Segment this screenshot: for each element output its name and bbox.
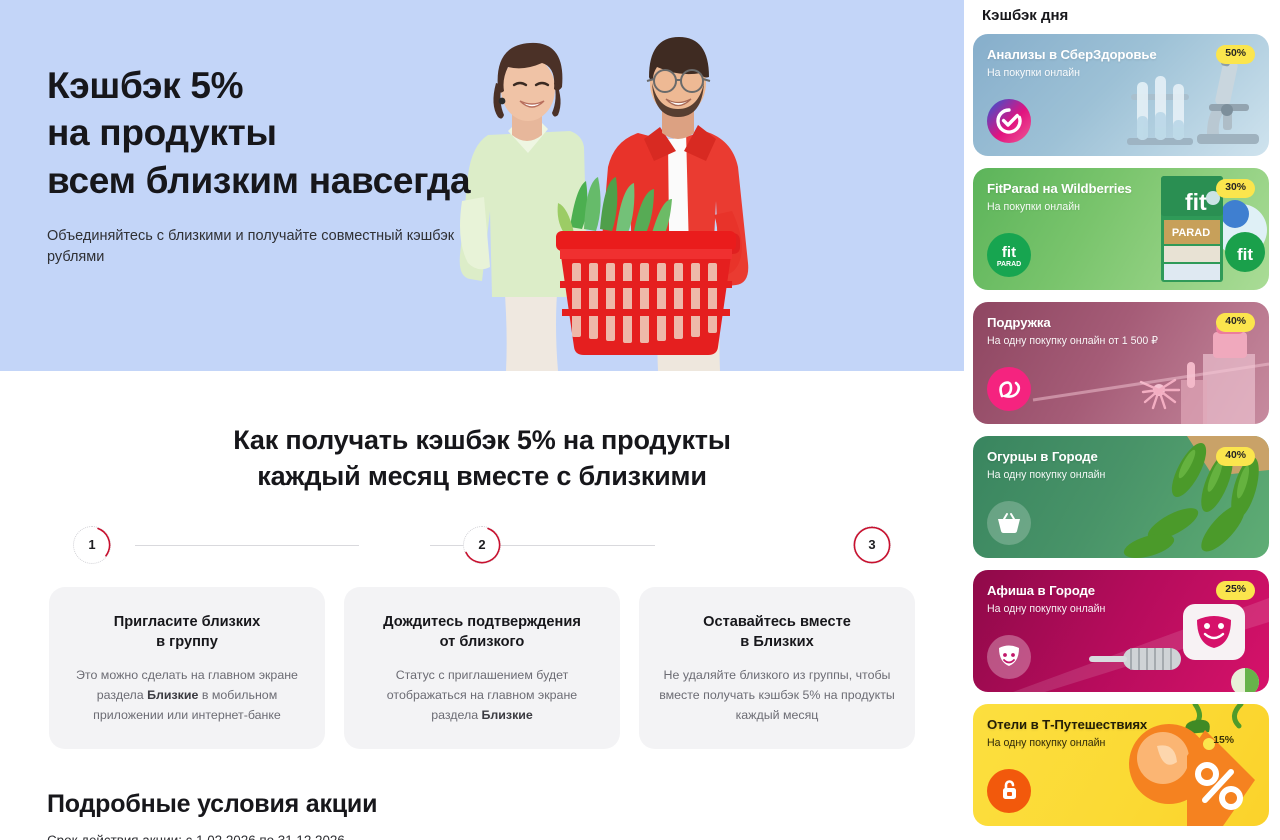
- step-card-text: Это можно сделать на главном экране разд…: [69, 665, 305, 725]
- step-marker-1: 1: [73, 526, 111, 564]
- step-text-highlight: Близкие: [147, 688, 198, 702]
- sidebar-title: Кэшбэк дня: [973, 0, 1269, 28]
- step-cards-row: Пригласите близких в группу Это можно сд…: [49, 587, 915, 750]
- offer-subtitle: На одну покупку онлайн: [987, 469, 1255, 482]
- step-marker-3: 3: [853, 526, 891, 564]
- terms-period: Срок действия акции: с 1.02.2026 по 31.1…: [47, 833, 964, 840]
- offer-card-sberzdorovie[interactable]: Анализы в СберЗдоровье На покупки онлайн…: [973, 34, 1269, 156]
- how-to-section: Как получать кэшбэк 5% на продукты кажды…: [0, 371, 964, 749]
- step-card-3: Оставайтесь вместе в Близких Не удаляйте…: [639, 587, 915, 750]
- offer-badge: 40%: [1216, 447, 1255, 466]
- cashback-sidebar: Кэшбэк дня: [964, 0, 1280, 840]
- sber-zdorovie-logo-icon: [987, 99, 1031, 143]
- offer-title: FitParad на Wildberries: [987, 181, 1255, 197]
- offer-subtitle: На одну покупку онлайн: [987, 603, 1255, 616]
- offer-subtitle: На одну покупку онлайн от 1 500 ₽: [987, 335, 1255, 348]
- hero-title: Кэшбэк 5% на продукты всем близким навсе…: [47, 62, 527, 204]
- hero-text-block: Кэшбэк 5% на продукты всем близким навсе…: [47, 62, 527, 268]
- offer-title: Афиша в Городе: [987, 583, 1255, 599]
- offer-badge: 30%: [1216, 179, 1255, 198]
- offer-card-afisha[interactable]: Афиша в Городе На одну покупку онлайн 25…: [973, 570, 1269, 692]
- step-card-2: Дождитесь подтверждения от близкого Стат…: [344, 587, 620, 750]
- hero-banner: Кэшбэк 5% на продукты всем близким навсе…: [0, 0, 964, 371]
- offer-subtitle: На покупки онлайн: [987, 201, 1255, 214]
- basket-icon: [987, 501, 1031, 545]
- hero-subtitle: Объединяйтесь с близкими и получайте сов…: [47, 226, 457, 268]
- promo-page: Кэшбэк 5% на продукты всем близким навсе…: [0, 0, 1280, 840]
- offer-card-oteli[interactable]: Отели в Т-Путешествиях На одну покупку о…: [973, 704, 1269, 826]
- theatre-mask-icon: [987, 635, 1031, 679]
- offer-card-podruzhka[interactable]: Подружка На одну покупку онлайн от 1 500…: [973, 302, 1269, 424]
- svg-text:PARAD: PARAD: [997, 261, 1021, 268]
- step-text-before: Не удаляйте близкого из группы, чтобы вм…: [659, 668, 895, 722]
- step-number: 2: [478, 537, 485, 552]
- step-card-text: Статус с приглашением будет отображаться…: [364, 665, 600, 725]
- hotel-tag-icon: [987, 769, 1031, 813]
- podruzhka-logo-icon: [987, 367, 1031, 411]
- svg-text:fit: fit: [1002, 244, 1016, 261]
- offer-list: Анализы в СберЗдоровье На покупки онлайн…: [973, 34, 1269, 826]
- step-number: 1: [88, 537, 95, 552]
- fitparad-logo-icon: fit PARAD: [987, 233, 1031, 277]
- step-card-text: Не удаляйте близкого из группы, чтобы вм…: [659, 665, 895, 725]
- offer-subtitle: На покупки онлайн: [987, 67, 1255, 80]
- step-card-title: Дождитесь подтверждения от близкого: [364, 613, 600, 652]
- offer-badge: 40%: [1216, 313, 1255, 332]
- step-card-1: Пригласите близких в группу Это можно сд…: [49, 587, 325, 750]
- step-number: 3: [868, 537, 875, 552]
- offer-title: Подружка: [987, 315, 1255, 331]
- offer-card-fitparad[interactable]: fit fit PARAD F: [973, 168, 1269, 290]
- svg-text:PARAD: PARAD: [1172, 227, 1210, 239]
- step-text-highlight: Близкие: [482, 708, 533, 722]
- offer-card-ogurcy[interactable]: Огурцы в Городе На одну покупку онлайн 4…: [973, 436, 1269, 558]
- offer-badge: 15%: [1204, 732, 1243, 751]
- svg-text:fit: fit: [1237, 245, 1253, 264]
- how-to-title: Как получать кэшбэк 5% на продукты кажды…: [0, 423, 964, 495]
- offer-title: Огурцы в Городе: [987, 449, 1255, 465]
- step-marker-2: 2: [463, 526, 501, 564]
- offer-title: Анализы в СберЗдоровье: [987, 47, 1255, 63]
- terms-heading: Подробные условия акции: [47, 790, 964, 819]
- offer-title: Отели в Т-Путешествиях: [987, 717, 1255, 733]
- step-card-title: Пригласите близких в группу: [69, 613, 305, 652]
- terms-section: Подробные условия акции Срок действия ак…: [47, 790, 964, 840]
- main-content-column: Кэшбэк 5% на продукты всем близким навсе…: [0, 0, 964, 840]
- steps-progress-rail: 1 2 3: [73, 526, 891, 564]
- step-card-title: Оставайтесь вместе в Близких: [659, 613, 895, 652]
- offer-badge: 25%: [1216, 581, 1255, 600]
- rail-connector-1: [135, 545, 359, 546]
- offer-badge: 50%: [1216, 45, 1255, 64]
